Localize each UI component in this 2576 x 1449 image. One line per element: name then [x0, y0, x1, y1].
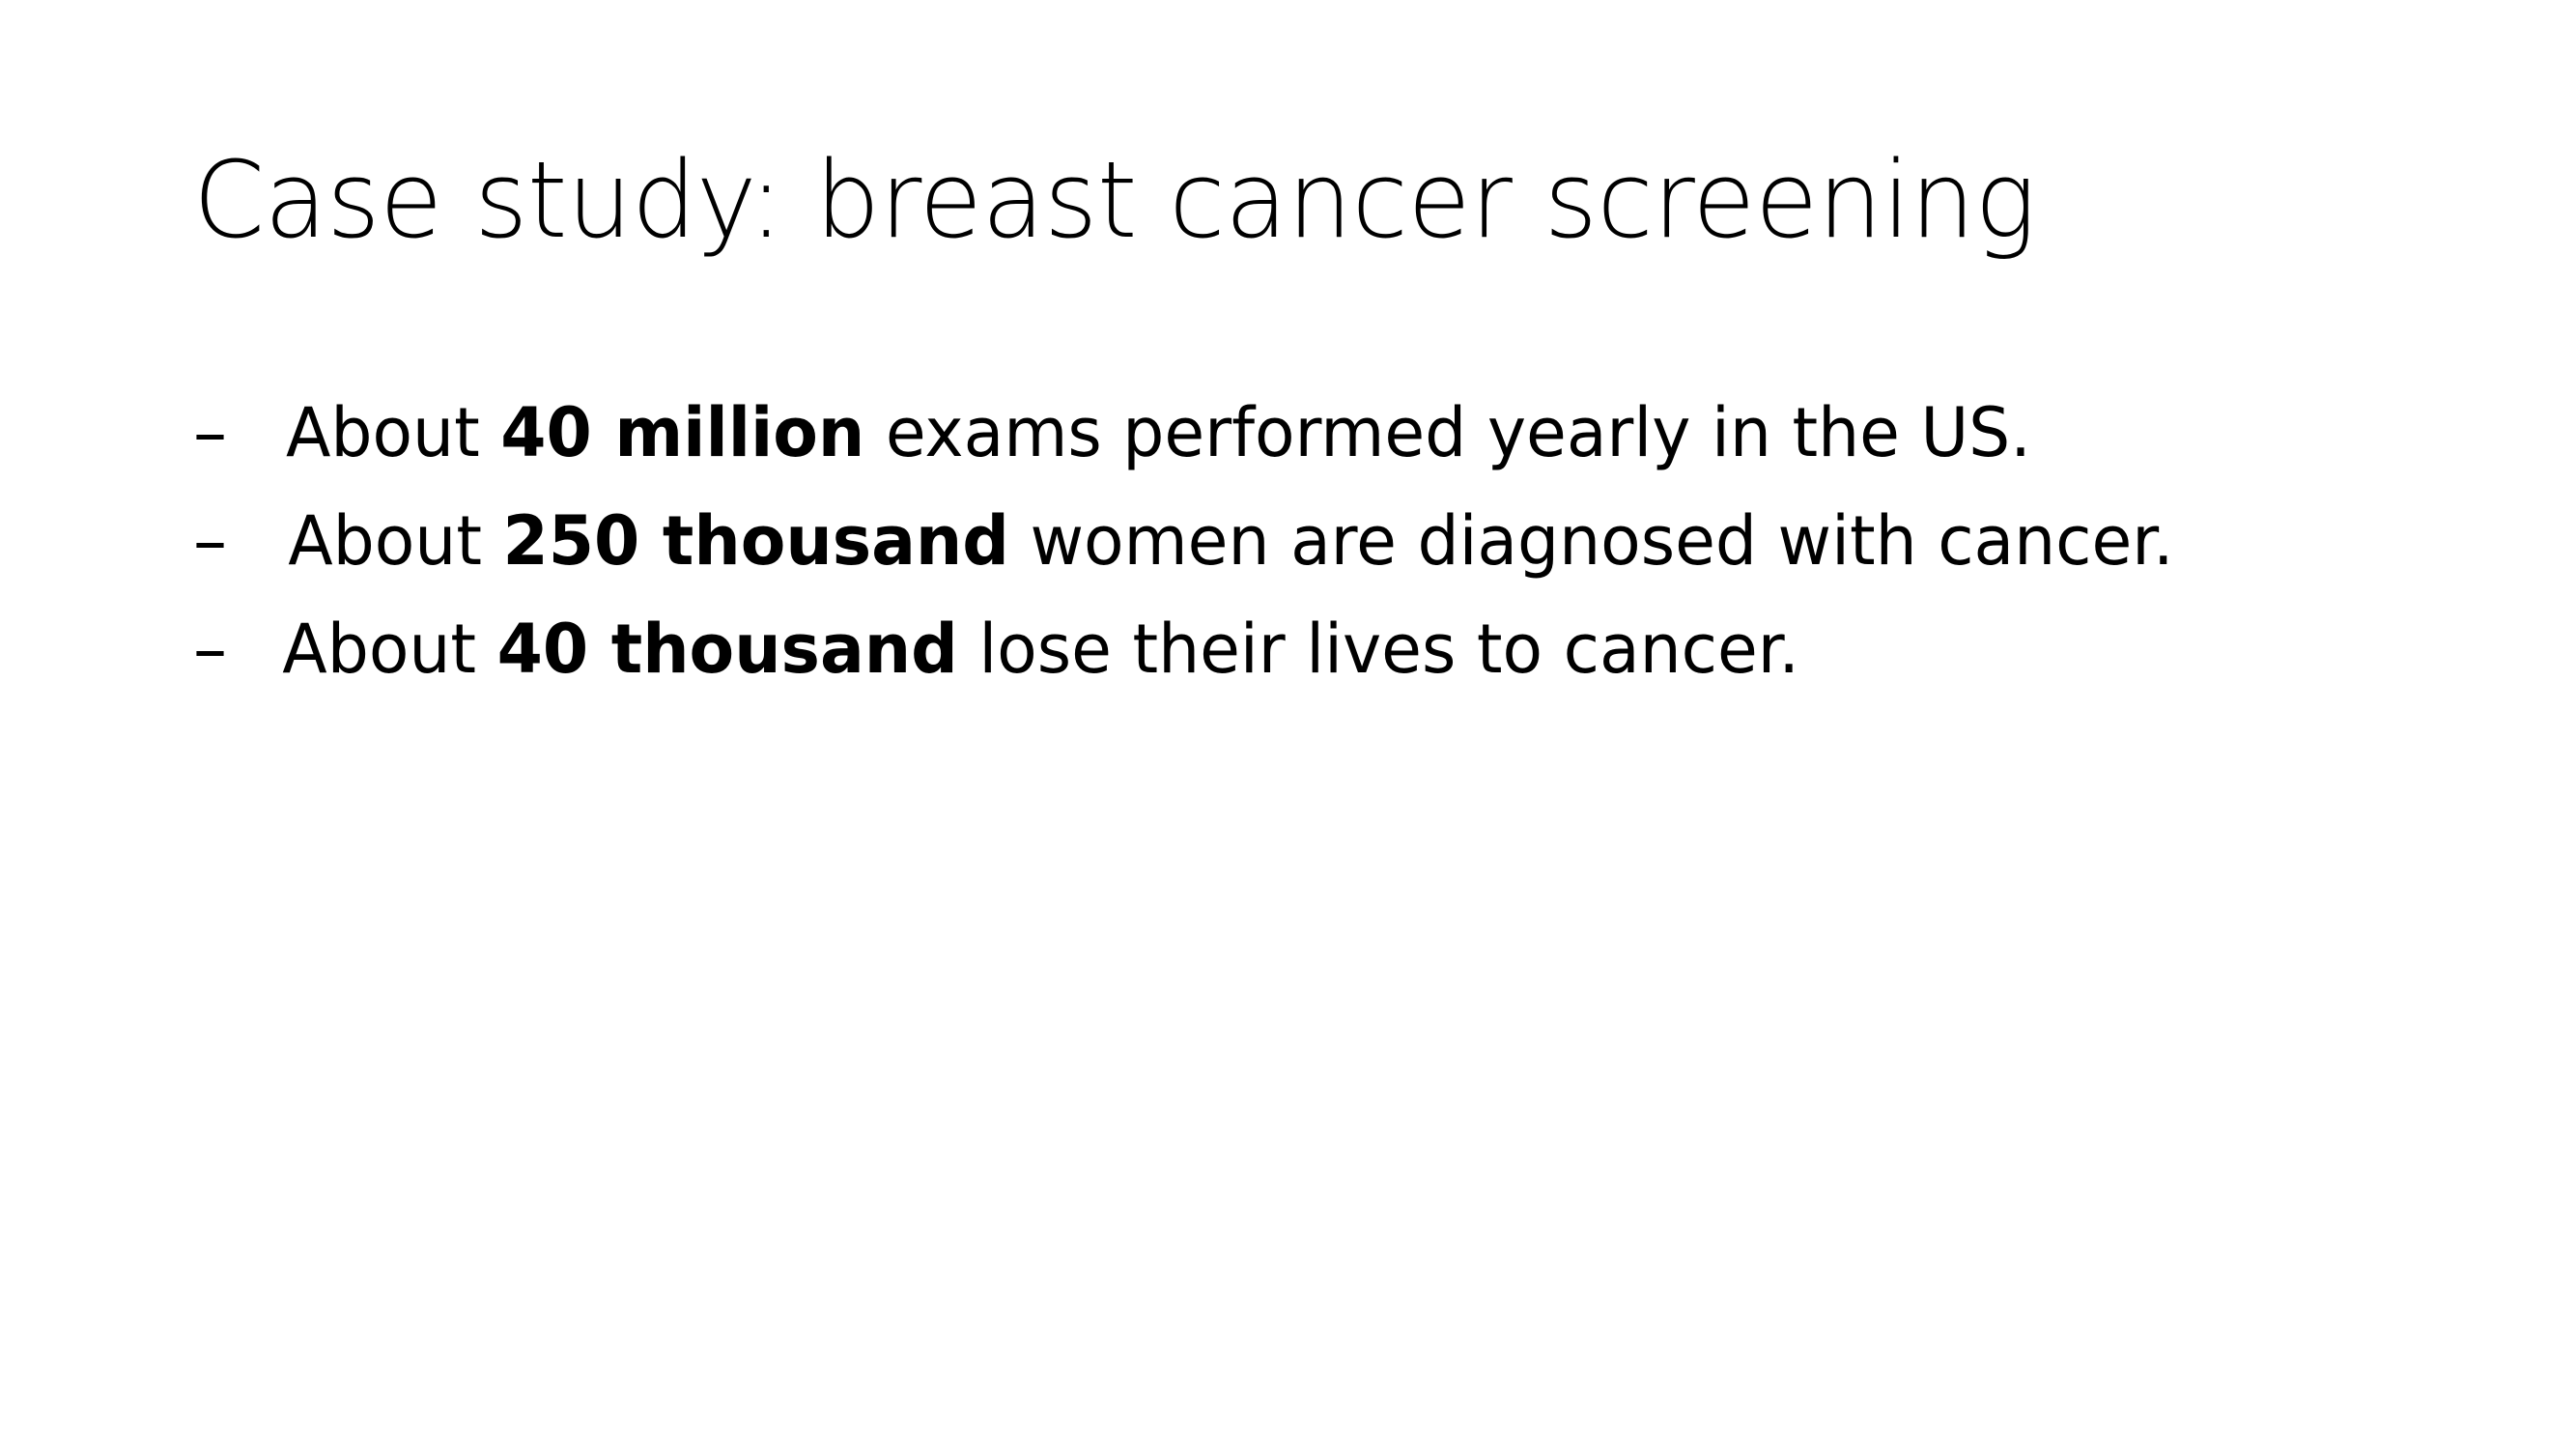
page-title: Case study: breast cancer screening	[193, 135, 2318, 265]
dash-bullet-icon: –	[193, 379, 259, 487]
list-item-lead: About	[282, 610, 496, 689]
content-placeholder: – About 40 million exams performed yearl…	[193, 379, 2415, 703]
list-item: – About 40 thousand lose their lives to …	[193, 595, 2415, 703]
list-item-emphasis: 250 thousand	[503, 501, 1009, 581]
list-item-lead: About	[286, 393, 500, 472]
list-item: – About 250 thousand women are diagnosed…	[193, 487, 2415, 595]
list-item-lead: About	[288, 501, 502, 581]
dash-bullet-icon: –	[193, 595, 259, 703]
list-item-tail: women are diagnosed with cancer.	[1009, 501, 2174, 581]
dash-bullet-icon: –	[193, 487, 259, 595]
list-item-text: About 40 million exams performed yearly …	[286, 379, 2031, 487]
list-item: – About 40 million exams performed yearl…	[193, 379, 2415, 487]
list-item-text: About 40 thousand lose their lives to ca…	[282, 595, 1799, 703]
list-item-emphasis: 40 thousand	[497, 610, 958, 689]
title-placeholder: Case study: breast cancer screening	[193, 135, 2395, 265]
list-item-emphasis: 40 million	[500, 393, 864, 472]
list-item-text: About 250 thousand women are diagnosed w…	[288, 487, 2173, 595]
list-item-tail: lose their lives to cancer.	[958, 610, 1799, 689]
list-item-tail: exams performed yearly in the US.	[864, 393, 2031, 472]
presentation-slide: Case study: breast cancer screening – Ab…	[0, 0, 2576, 1449]
